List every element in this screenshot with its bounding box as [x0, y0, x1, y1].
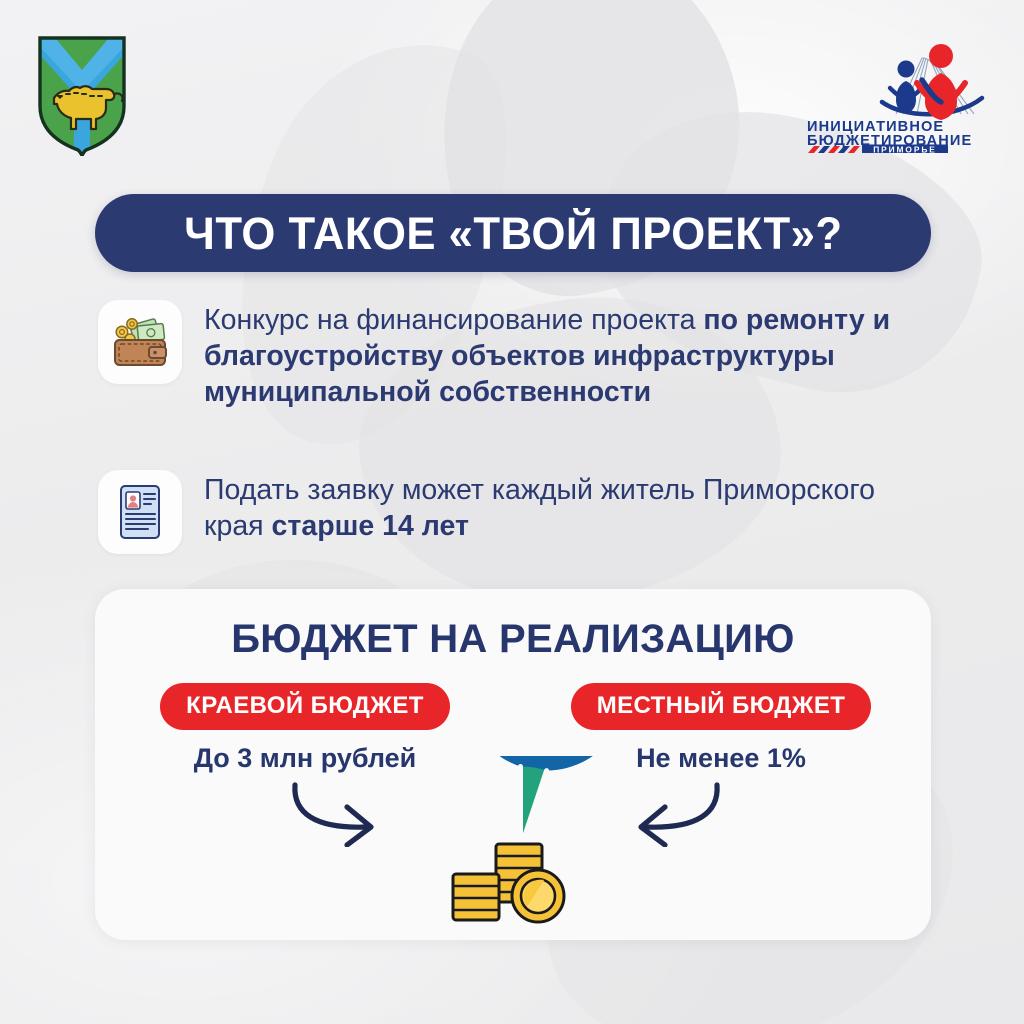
- coat-of-arms-icon: [36, 34, 128, 156]
- badge-regional-budget: КРАЕВОЙ БЮДЖЕТ: [160, 683, 450, 730]
- bullet-2-bold: старше 14 лет: [272, 510, 469, 542]
- page-title: ЧТО ТАКОЕ «ТВОЙ ПРОЕКТ»?: [184, 211, 842, 256]
- id-document-icon: [98, 470, 182, 554]
- budget-card: БЮДЖЕТ НА РЕАЛИЗАЦИЮ КРАЕВОЙ БЮДЖЕТ До 3…: [95, 589, 931, 940]
- bullet-item-competition: Конкурс на финансирование проекта по рем…: [98, 300, 904, 411]
- amount-regional-budget: До 3 млн рублей: [135, 743, 475, 774]
- budget-pie-chart: [428, 756, 613, 941]
- infographic-page: ИНИЦИАТИВНОЕ БЮДЖЕТИРОВАНИЕ ПРИМОРЬЕ ЧТО…: [0, 0, 1024, 1024]
- bullet-1-lead: Конкурс на финансирование проекта: [204, 304, 695, 336]
- wallet-money-icon: [98, 300, 182, 384]
- coin-stack-short: [453, 874, 499, 920]
- page-title-banner: ЧТО ТАКОЕ «ТВОЙ ПРОЕКТ»?: [95, 194, 931, 272]
- curved-arrow-left-icon: [627, 777, 727, 852]
- budget-column-regional: КРАЕВОЙ БЮДЖЕТ До 3 млн рублей: [135, 683, 475, 774]
- single-coin: [512, 870, 564, 922]
- bullet-text-competition: Конкурс на финансирование проекта по рем…: [204, 300, 904, 411]
- badge-local-budget: МЕСТНЫЙ БЮДЖЕТ: [571, 683, 872, 730]
- bullet-text-eligibility: Подать заявку может каждый житель Примор…: [204, 470, 904, 544]
- bullet-item-eligibility: Подать заявку может каждый житель Примор…: [98, 470, 904, 554]
- logo-badge-text: ПРИМОРЬЕ: [873, 145, 937, 153]
- brand-logo: ИНИЦИАТИВНОЕ БЮДЖЕТИРОВАНИЕ ПРИМОРЬЕ: [804, 28, 990, 153]
- curved-arrow-right-icon: [285, 777, 385, 852]
- budget-heading: БЮДЖЕТ НА РЕАЛИЗАЦИЮ: [95, 617, 931, 662]
